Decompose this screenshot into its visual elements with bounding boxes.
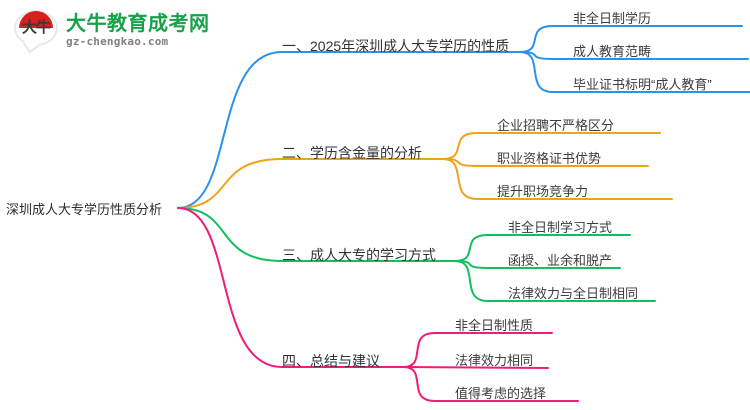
mindmap-leaf-3-1[interactable]: 非全日制学习方式	[508, 217, 612, 236]
logo-wordmark: 大牛教育成考网 gz-chengkao.com	[66, 13, 210, 48]
logo-name-en: gz-chengkao.com	[66, 35, 210, 48]
mindmap-leaf-1-3[interactable]: 毕业证书标明“成人教育”	[573, 74, 712, 93]
mindmap-branch-2[interactable]: 二、学历含金量的分析	[282, 143, 422, 163]
logo-name-cn: 大牛教育成考网	[66, 13, 210, 35]
mindmap-leaf-4-2[interactable]: 法律效力相同	[455, 350, 533, 369]
mindmap-canvas: 大牛 大牛教育成考网 gz-chengkao.com 深圳成人大专学历性质分析 …	[0, 0, 750, 410]
mindmap-leaf-2-3[interactable]: 提升职场竞争力	[497, 181, 588, 200]
mindmap-leaf-2-1[interactable]: 企业招聘不严格区分	[497, 115, 614, 134]
mindmap-branch-4[interactable]: 四、总结与建议	[282, 351, 380, 371]
mindmap-leaf-3-3[interactable]: 法律效力与全日制相同	[508, 283, 638, 302]
mindmap-leaf-4-1[interactable]: 非全日制性质	[455, 315, 533, 334]
mindmap-root-node[interactable]: 深圳成人大专学历性质分析	[6, 199, 162, 218]
mindmap-branch-1[interactable]: 一、2025年深圳成人大专学历的性质	[282, 36, 509, 56]
mindmap-branch-3[interactable]: 三、成人大专的学习方式	[282, 245, 436, 265]
logo-mark-text: 大牛	[18, 20, 54, 35]
mindmap-leaf-1-2[interactable]: 成人教育范畴	[573, 41, 651, 60]
mindmap-leaf-3-2[interactable]: 函授、业余和脱产	[508, 250, 612, 269]
mindmap-leaf-4-3[interactable]: 值得考虑的选择	[455, 383, 546, 402]
mindmap-leaf-2-2[interactable]: 职业资格证书优势	[497, 148, 601, 167]
mindmap-leaf-1-1[interactable]: 非全日制学历	[573, 8, 651, 27]
site-logo: 大牛 大牛教育成考网 gz-chengkao.com	[14, 8, 210, 52]
logo-bubble-icon: 大牛	[14, 8, 60, 52]
